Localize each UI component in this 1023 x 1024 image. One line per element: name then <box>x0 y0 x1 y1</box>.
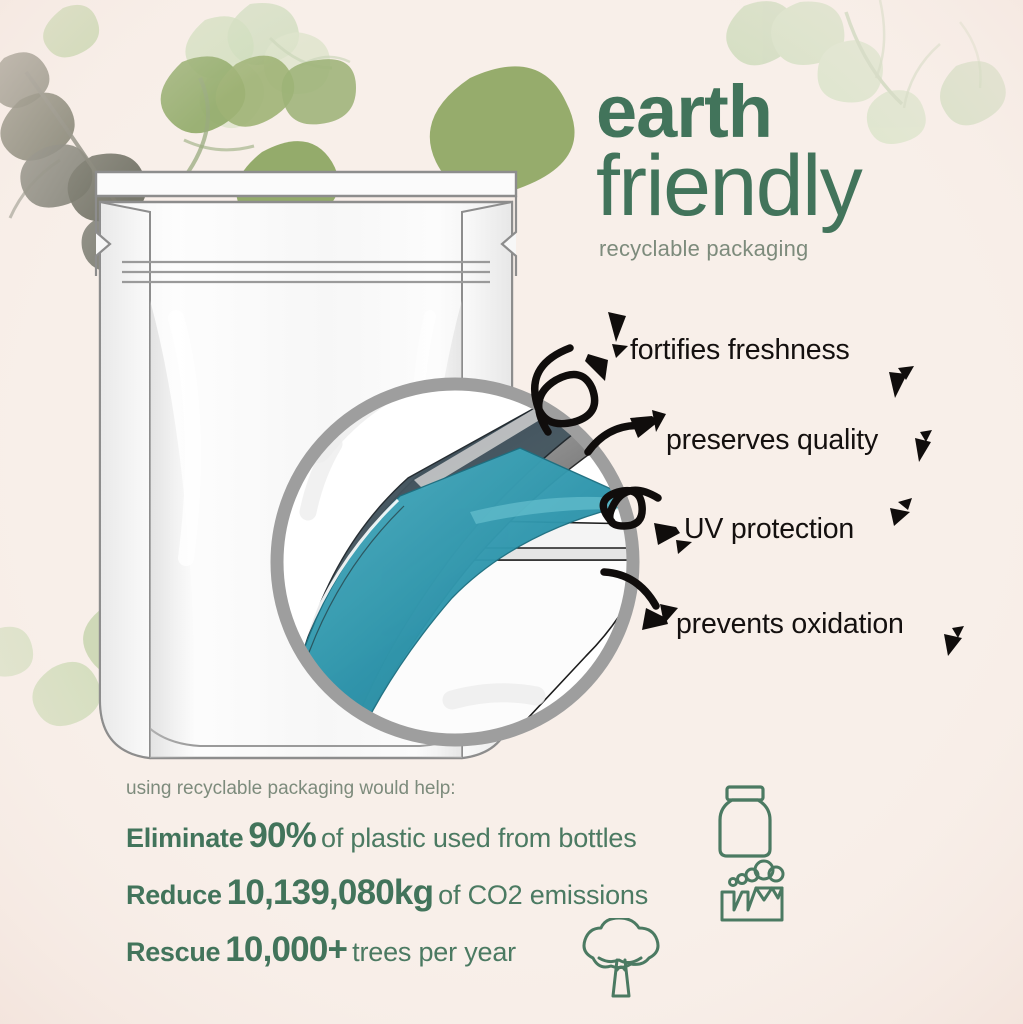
stat-tail: of CO2 emissions <box>438 880 648 910</box>
stat-verb: Eliminate <box>126 823 243 853</box>
headline-block: earth friendly recyclable packaging <box>596 78 1016 262</box>
headline-line-friendly: friendly <box>596 146 1016 228</box>
tree-icon <box>573 918 669 1002</box>
stat-figure: 10,139,080kg <box>227 873 433 912</box>
headline-subtitle: recyclable packaging <box>599 236 1016 262</box>
factory-icon <box>718 858 786 922</box>
stat-verb: Reduce <box>126 880 222 910</box>
feature-label-uv-protection: UV protection <box>684 513 854 546</box>
stat-tail: of plastic used from bottles <box>321 823 637 853</box>
arrow-oxidation <box>604 572 656 606</box>
stat-row-rescue: Rescue10,000+trees per year <box>126 932 826 967</box>
stat-figure: 90% <box>248 816 316 855</box>
arrow-knot-uv <box>603 490 658 526</box>
feature-label-prevents-oxidation: prevents oxidation <box>676 608 904 641</box>
infographic-poster: earth friendly recyclable packaging fort… <box>0 0 1023 1024</box>
bottle-icon <box>712 783 778 861</box>
stat-verb: Rescue <box>126 937 220 967</box>
headline-line-earth: earth <box>596 78 1016 146</box>
stat-tail: trees per year <box>352 937 516 967</box>
feature-label-preserves-quality: preserves quality <box>666 424 878 457</box>
stat-figure: 10,000+ <box>225 930 347 969</box>
feature-label-fortifies-freshness: fortifies freshness <box>630 334 850 367</box>
